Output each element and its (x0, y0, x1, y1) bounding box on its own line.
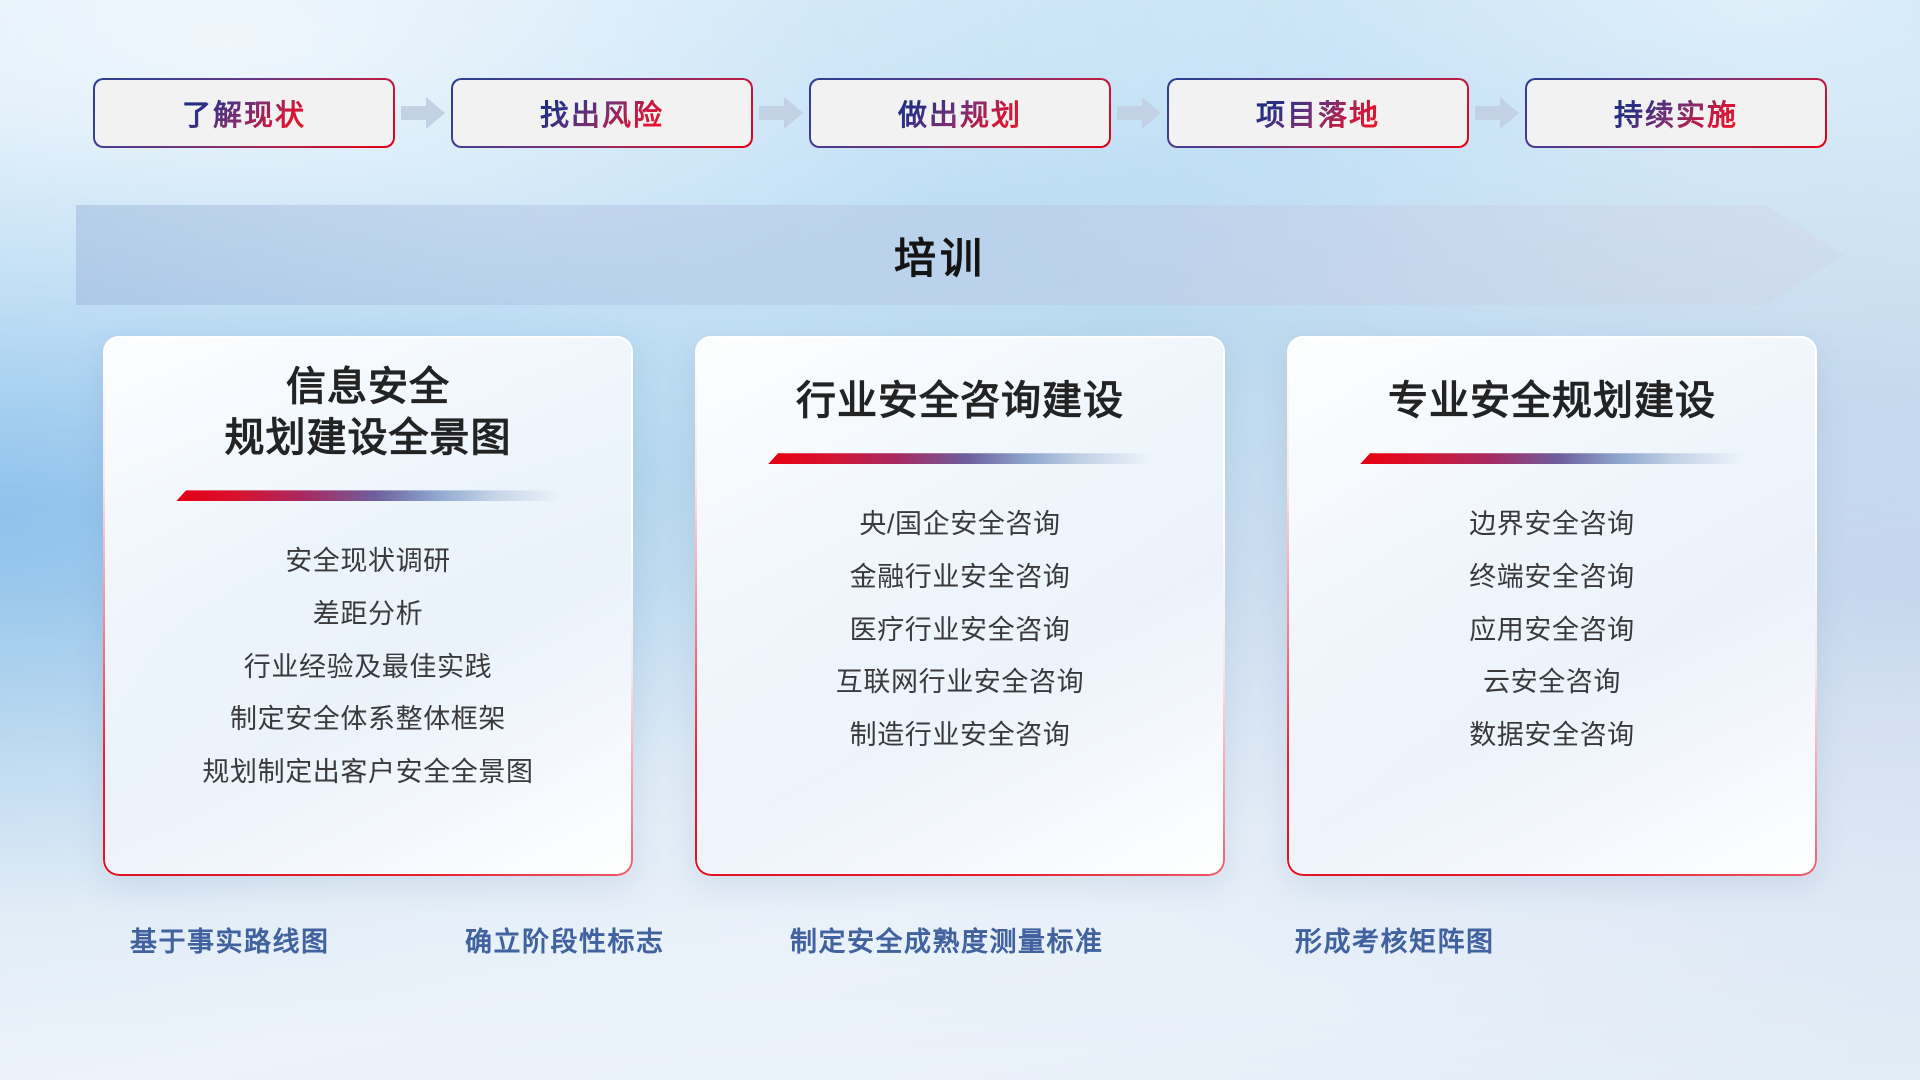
list-item: 规划制定出客户安全全景图 (103, 746, 633, 799)
list-item: 数据安全咨询 (1287, 709, 1817, 762)
card-professional-security-planning[interactable]: 专业安全规划建设 边界安全咨询 终端安全咨询 应用安全咨询 云安全咨询 数据安全… (1287, 336, 1817, 876)
list-item: 医疗行业安全咨询 (695, 604, 1225, 657)
card-information-security-blueprint[interactable]: 信息安全 规划建设全景图 安全现状调研 差距分析 行业经验及最佳实践 制定安全体… (103, 336, 633, 876)
card-industry-security-consulting[interactable]: 行业安全咨询建设 央/国企安全咨询 金融行业安全咨询 医疗行业安全咨询 互联网行… (695, 336, 1225, 876)
process-step-label: 持续实施 (1614, 92, 1738, 134)
list-item: 差距分析 (103, 588, 633, 641)
caption-milestone: 确立阶段性标志 (465, 920, 665, 959)
caption-maturity-standard: 制定安全成熟度测量标准 (790, 920, 1104, 959)
card-title: 信息安全 规划建设全景图 (103, 362, 633, 464)
card-item-list: 边界安全咨询 终端安全咨询 应用安全咨询 云安全咨询 数据安全咨询 (1287, 498, 1817, 761)
process-steps-strip: 了解现状 找出风险 做出规划 项目落地 (0, 78, 1920, 148)
process-step-1[interactable]: 找出风险 (451, 78, 753, 148)
process-step-4[interactable]: 持续实施 (1525, 78, 1827, 148)
process-step-2[interactable]: 做出规划 (809, 78, 1111, 148)
process-step-label: 项目落地 (1256, 92, 1380, 134)
list-item: 终端安全咨询 (1287, 551, 1817, 604)
list-item: 行业经验及最佳实践 (103, 641, 633, 694)
bottom-captions: 基于事实路线图 确立阶段性标志 制定安全成熟度测量标准 形成考核矩阵图 (0, 920, 1920, 974)
list-item: 制造行业安全咨询 (695, 709, 1225, 762)
card-item-list: 安全现状调研 差距分析 行业经验及最佳实践 制定安全体系整体框架 规划制定出客户… (103, 535, 633, 798)
process-step-label: 做出规划 (898, 92, 1022, 134)
card-title: 专业安全规划建设 (1287, 376, 1817, 427)
process-step-label: 了解现状 (182, 92, 306, 134)
card-divider (176, 490, 560, 501)
list-item: 金融行业安全咨询 (695, 551, 1225, 604)
caption-assessment-matrix: 形成考核矩阵图 (1295, 920, 1495, 959)
arrow-right-icon (1469, 78, 1525, 148)
list-item: 央/国企安全咨询 (695, 498, 1225, 551)
list-item: 边界安全咨询 (1287, 498, 1817, 551)
banner-title: 培训 (76, 205, 1844, 305)
process-step-label: 找出风险 (540, 92, 664, 134)
card-item-list: 央/国企安全咨询 金融行业安全咨询 医疗行业安全咨询 互联网行业安全咨询 制造行… (695, 498, 1225, 761)
arrow-right-icon (753, 78, 809, 148)
training-banner: 培训 (76, 205, 1844, 305)
cards-row: 信息安全 规划建设全景图 安全现状调研 差距分析 行业经验及最佳实践 制定安全体… (0, 336, 1920, 876)
arrow-right-icon (395, 78, 451, 148)
list-item: 应用安全咨询 (1287, 604, 1817, 657)
list-item: 制定安全体系整体框架 (103, 693, 633, 746)
card-divider (1360, 453, 1744, 464)
card-divider (768, 453, 1152, 464)
caption-roadmap: 基于事实路线图 (130, 920, 330, 959)
process-step-3[interactable]: 项目落地 (1167, 78, 1469, 148)
list-item: 云安全咨询 (1287, 656, 1817, 709)
list-item: 互联网行业安全咨询 (695, 656, 1225, 709)
slide-canvas: 了解现状 找出风险 做出规划 项目落地 (0, 0, 1920, 1080)
list-item: 安全现状调研 (103, 535, 633, 588)
card-title: 行业安全咨询建设 (695, 376, 1225, 427)
arrow-right-icon (1111, 78, 1167, 148)
process-step-0[interactable]: 了解现状 (93, 78, 395, 148)
